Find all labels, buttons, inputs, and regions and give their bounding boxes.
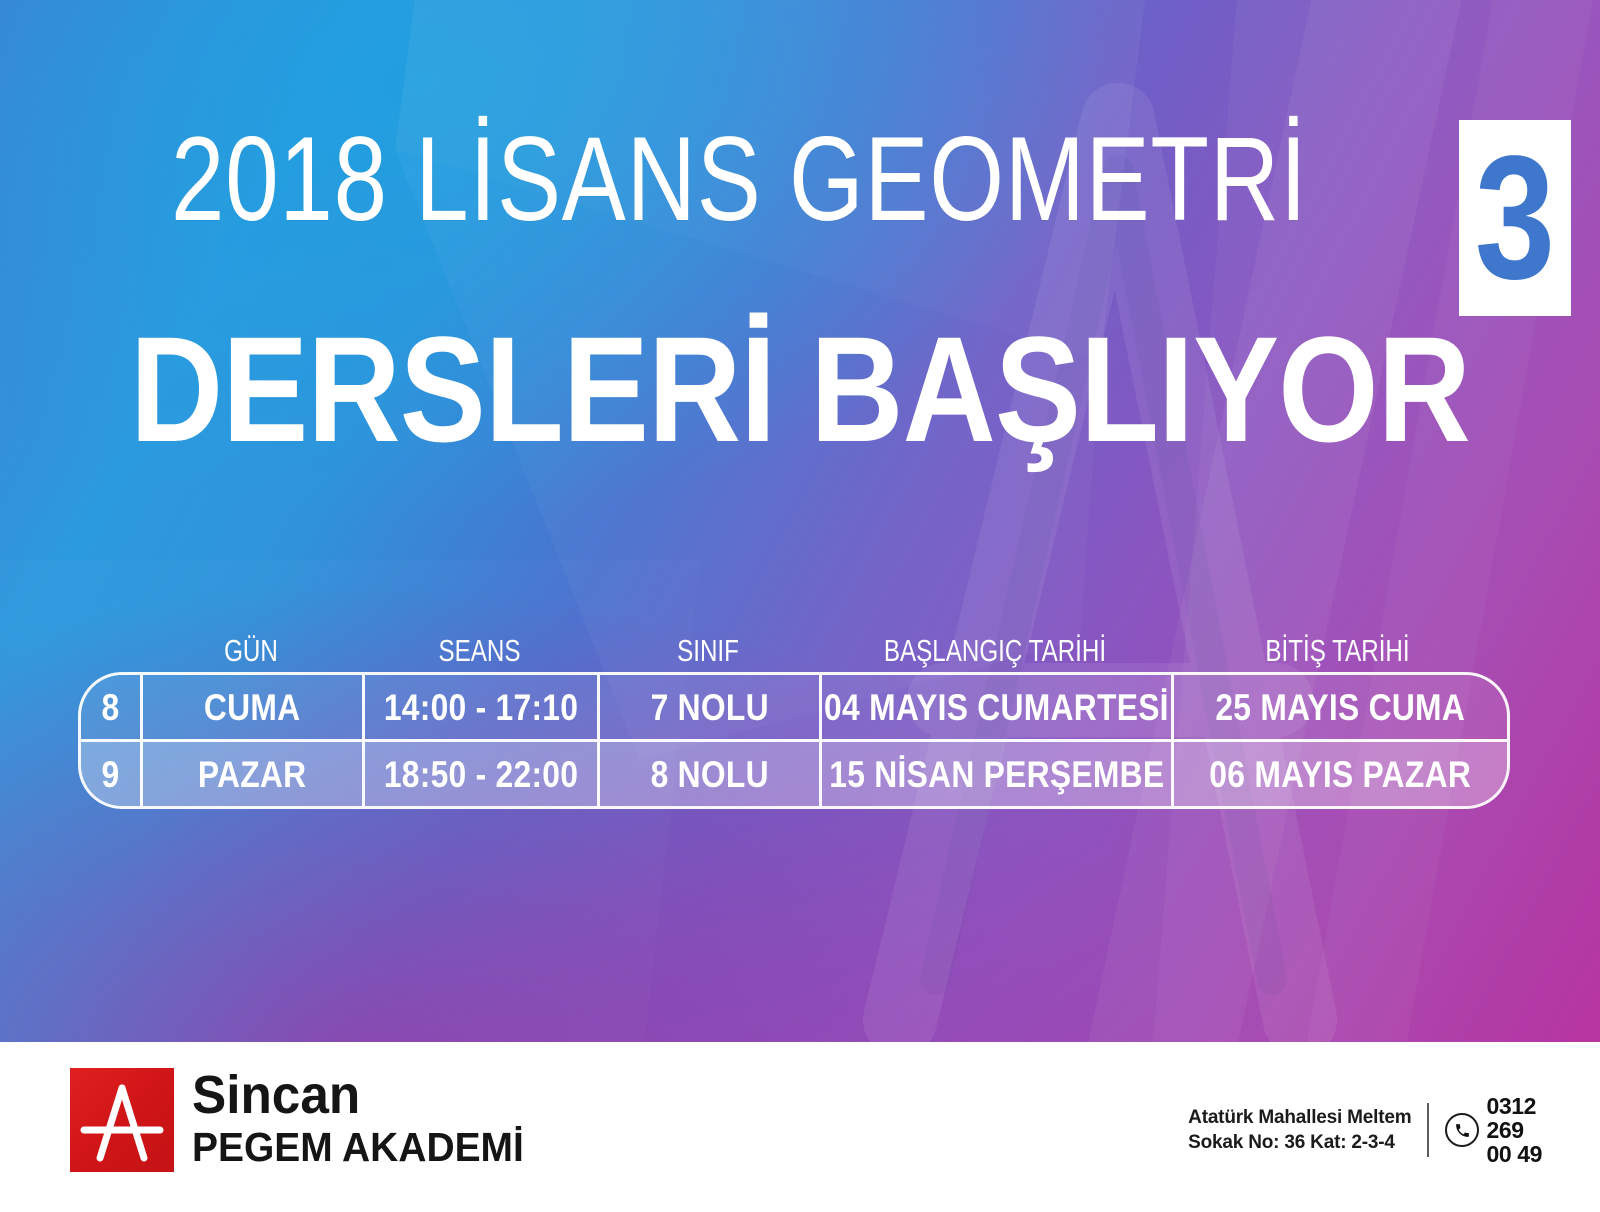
- page-title-line1: 2018 LİSANS GEOMETRİ: [171, 118, 1307, 240]
- schedule-header-row: GÜN SEANS SINIF BAŞLANGIÇ TARİHİ BİTİŞ T…: [78, 612, 1510, 666]
- phone-number-line2: 269: [1486, 1118, 1542, 1142]
- brand-name-line1: Sincan: [192, 1070, 524, 1120]
- column-header-seans: SEANS: [388, 635, 571, 666]
- cell-sinif-text: 7 NOLU: [650, 689, 768, 726]
- table-row: 8 CUMA 14:00 - 17:10 7 NOLU 04 MAYIS CUM…: [81, 675, 1507, 739]
- cell-gun-text: CUMA: [204, 689, 300, 726]
- background-gradient: 2018 LİSANS GEOMETRİ 3 DERSLERİ BAŞLIYOR…: [0, 0, 1600, 1042]
- brand-logo-text: Sincan PEGEM AKADEMİ: [192, 1070, 541, 1170]
- cell-no-text: 8: [102, 689, 120, 726]
- cell-no-text: 9: [102, 756, 120, 793]
- cell-bitis: 06 MAYIS PAZAR: [1174, 742, 1507, 806]
- column-header-gun: GÜN: [164, 635, 337, 666]
- column-header-sinif: SINIF: [621, 635, 794, 666]
- poster-root: 2018 LİSANS GEOMETRİ 3 DERSLERİ BAŞLIYOR…: [0, 0, 1600, 1212]
- cell-bitis-text: 25 MAYIS CUMA: [1216, 689, 1466, 726]
- cell-baslangic-text: 15 NİSAN PERŞEMBE: [829, 756, 1164, 793]
- cell-baslangic-text: 04 MAYIS CUMARTESİ: [824, 689, 1169, 726]
- brand-name-line2: PEGEM AKADEMİ: [192, 1124, 524, 1170]
- cell-gun: PAZAR: [143, 742, 365, 806]
- contact-info: Atatürk Mahallesi Meltem Sokak No: 36 Ka…: [1188, 1094, 1542, 1166]
- cell-seans-text: 14:00 - 17:10: [384, 689, 578, 726]
- phone-number: 0312 269 00 49: [1486, 1094, 1542, 1166]
- al-monogram-icon: [70, 1068, 174, 1172]
- schedule-table-body: 8 CUMA 14:00 - 17:10 7 NOLU 04 MAYIS CUM…: [78, 672, 1510, 809]
- table-row: 9 PAZAR 18:50 - 22:00 8 NOLU 15 NİSAN PE…: [81, 739, 1507, 806]
- cell-seans-text: 18:50 - 22:00: [384, 756, 578, 793]
- phone-block[interactable]: 0312 269 00 49: [1445, 1094, 1542, 1166]
- phone-number-line1: 0312: [1486, 1094, 1542, 1118]
- cell-seans: 18:50 - 22:00: [365, 742, 600, 806]
- address-line1: Atatürk Mahallesi Meltem: [1188, 1105, 1411, 1130]
- phone-number-line3: 00 49: [1486, 1142, 1542, 1166]
- cell-baslangic: 04 MAYIS CUMARTESİ: [822, 675, 1174, 739]
- phone-icon: [1445, 1113, 1479, 1147]
- cell-baslangic: 15 NİSAN PERŞEMBE: [822, 742, 1174, 806]
- headline: 2018 LİSANS GEOMETRİ 3 DERSLERİ BAŞLIYOR: [0, 118, 1600, 466]
- cell-sinif: 8 NOLU: [600, 742, 822, 806]
- page-title-line2: DERSLERİ BAŞLIYOR: [112, 312, 1488, 466]
- contact-divider: [1427, 1103, 1429, 1157]
- address-line2: Sokak No: 36 Kat: 2-3-4: [1188, 1130, 1411, 1155]
- cell-seans: 14:00 - 17:10: [365, 675, 600, 739]
- course-number-badge: 3: [1459, 120, 1571, 316]
- cell-sinif-text: 8 NOLU: [650, 756, 768, 793]
- brand-logo: Sincan PEGEM AKADEMİ: [70, 1068, 541, 1172]
- column-header-baslangic-tarihi: BAŞLANGIÇ TARİHİ: [858, 635, 1133, 666]
- column-header-bitis-tarihi: BİTİŞ TARİHİ: [1208, 635, 1468, 666]
- title-row-1: 2018 LİSANS GEOMETRİ 3: [0, 118, 1600, 316]
- cell-no: 8: [81, 675, 143, 739]
- cell-bitis-text: 06 MAYIS PAZAR: [1210, 756, 1472, 793]
- course-number-badge-label: 3: [1475, 130, 1555, 306]
- address-block: Atatürk Mahallesi Meltem Sokak No: 36 Ka…: [1188, 1105, 1411, 1155]
- footer-bar: Sincan PEGEM AKADEMİ Atatürk Mahallesi M…: [0, 1042, 1600, 1212]
- cell-no: 9: [81, 742, 143, 806]
- cell-gun: CUMA: [143, 675, 365, 739]
- schedule-table: GÜN SEANS SINIF BAŞLANGIÇ TARİHİ BİTİŞ T…: [78, 612, 1510, 809]
- cell-bitis: 25 MAYIS CUMA: [1174, 675, 1507, 739]
- cell-sinif: 7 NOLU: [600, 675, 822, 739]
- cell-gun-text: PAZAR: [198, 756, 307, 793]
